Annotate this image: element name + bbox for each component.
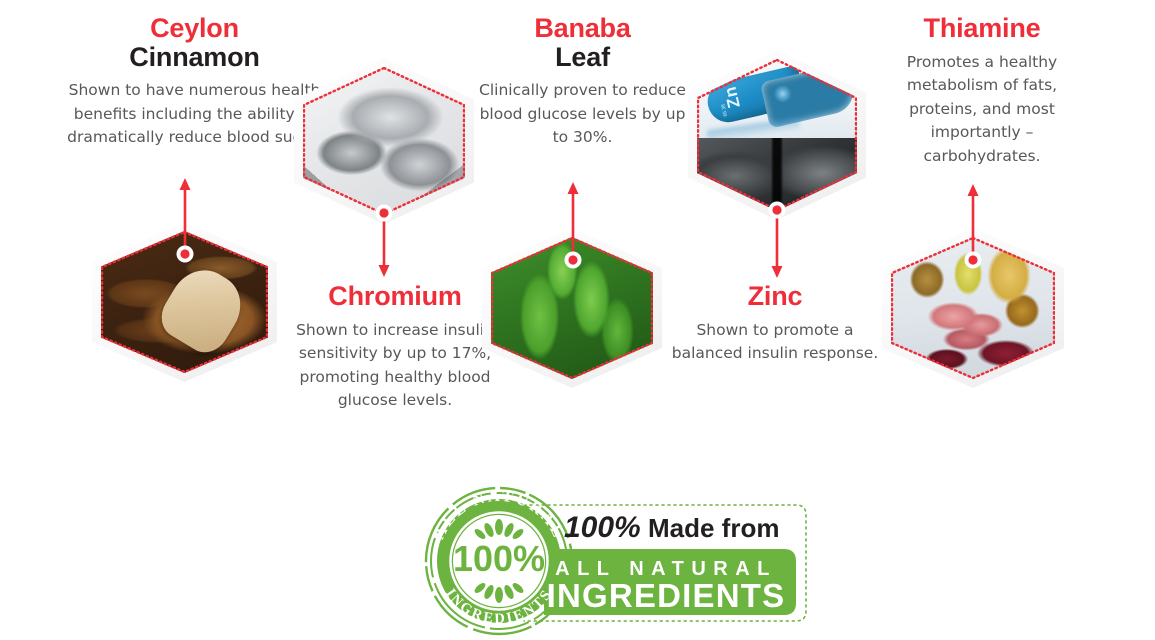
ingredient-description-thiamine: Promotes a healthy metabolism of fats, p…	[872, 51, 1092, 169]
ingredient-title-accent: Banaba	[470, 14, 695, 43]
connector-arrow-zinc	[762, 204, 792, 280]
ingredient-hexagon-chromium	[294, 58, 474, 224]
ingredient-title-thiamine: Thiamine	[872, 14, 1092, 43]
connector-arrow-chromium	[369, 207, 399, 279]
all-natural-ingredients-badge: ALL NATURAL INGREDIENTS 100%	[404, 483, 824, 638]
badge-graphic: ALL NATURAL INGREDIENTS 100%	[404, 483, 824, 638]
ingredient-title-accent: Thiamine	[872, 14, 1092, 43]
ingredient-text-thiamine: Thiamine Promotes a healthy metabolism o…	[872, 14, 1092, 168]
ingredient-title-main: Leaf	[470, 43, 695, 72]
stamp-center-percentage: 100%	[453, 538, 545, 579]
ingredient-title-zinc: Zinc	[670, 282, 880, 311]
infographic-canvas: Ceylon Cinnamon Shown to have numerous h…	[0, 0, 1155, 640]
ingredient-description-banaba-leaf: Clinically proven to reduce blood glucos…	[470, 79, 695, 150]
badge-headline-percentage: 100%	[564, 511, 641, 544]
zinc-capsule-photo: Zn 65.38	[697, 59, 857, 138]
ingredient-title-accent: Ceylon	[52, 14, 337, 43]
badge-banner-line2: INGREDIENTS	[547, 577, 786, 614]
ingredient-text-banaba-leaf: Banaba Leaf Clinically proven to reduce …	[470, 14, 695, 150]
ingredient-description-zinc: Shown to promote a balanced insulin resp…	[670, 319, 880, 366]
connector-arrow-banaba-leaf	[558, 180, 588, 264]
ingredient-title-accent: Zinc	[670, 282, 880, 311]
ingredient-hexagon-zinc: Zn 65.38	[688, 50, 866, 220]
connector-arrow-thiamine	[958, 182, 988, 264]
ingredient-text-zinc: Zinc Shown to promote a balanced insulin…	[670, 282, 880, 366]
connector-arrow-ceylon-cinnamon	[170, 176, 200, 258]
badge-headline-text: Made from	[648, 513, 779, 543]
ingredient-title-banaba-leaf: Banaba Leaf	[470, 14, 695, 71]
zinc-ore-photo	[697, 138, 857, 211]
